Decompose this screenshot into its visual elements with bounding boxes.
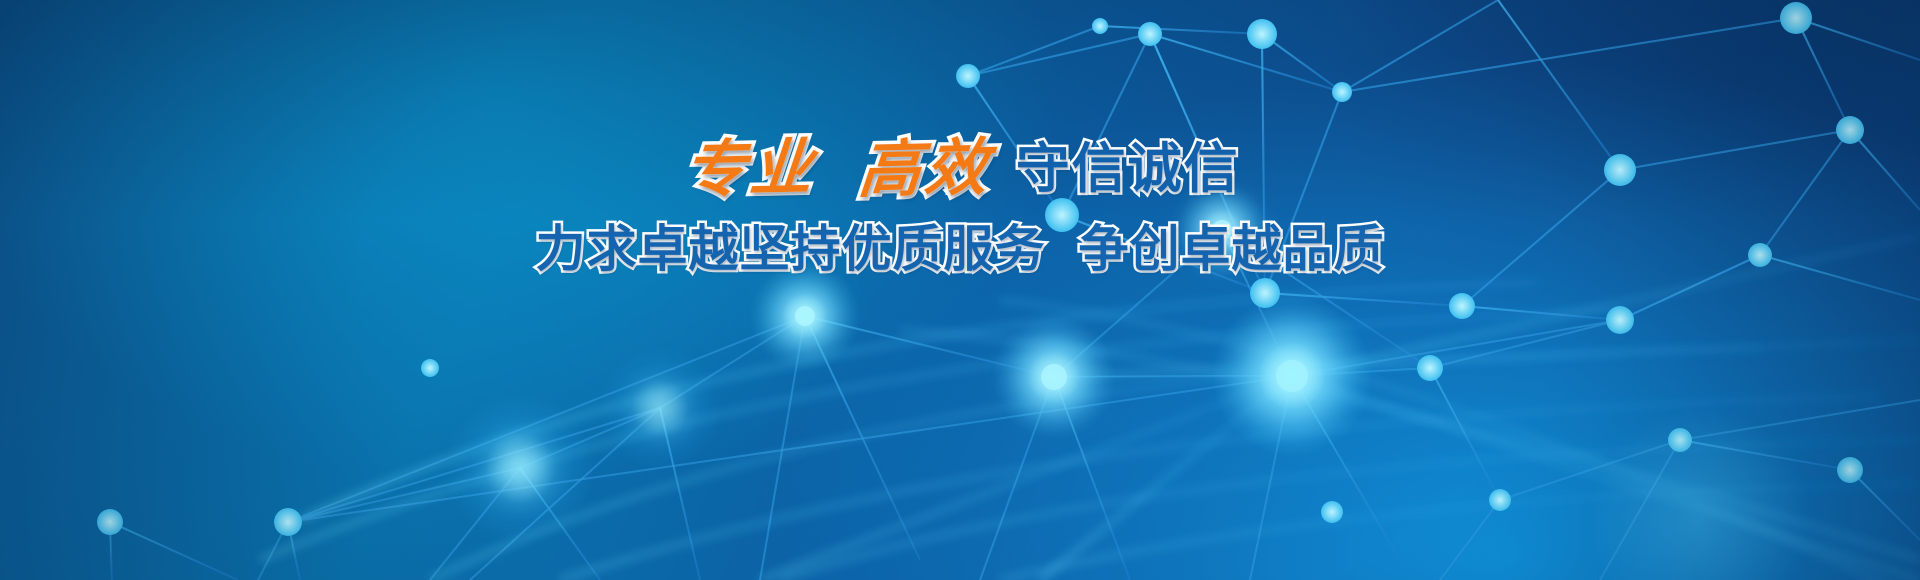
slogan-highlight-a: 专业 xyxy=(678,137,824,202)
slogan-outline-text: 守信诚信 xyxy=(1016,142,1240,196)
background-vignette xyxy=(0,0,1920,580)
subslogan-part-a: 力求卓越坚持优质服务 xyxy=(536,224,1046,274)
headline-line-1: 专业 高效 守信诚信 xyxy=(0,138,1920,210)
slogan-highlight-b: 高效 xyxy=(852,137,998,202)
hero-banner: 专业 高效 守信诚信 力求卓越坚持优质服务 争创卓越品质 xyxy=(0,0,1920,580)
headline-line-2: 力求卓越坚持优质服务 争创卓越品质 xyxy=(0,224,1920,274)
headline-block: 专业 高效 守信诚信 力求卓越坚持优质服务 争创卓越品质 xyxy=(0,138,1920,274)
subslogan-part-b: 争创卓越品质 xyxy=(1078,224,1384,274)
